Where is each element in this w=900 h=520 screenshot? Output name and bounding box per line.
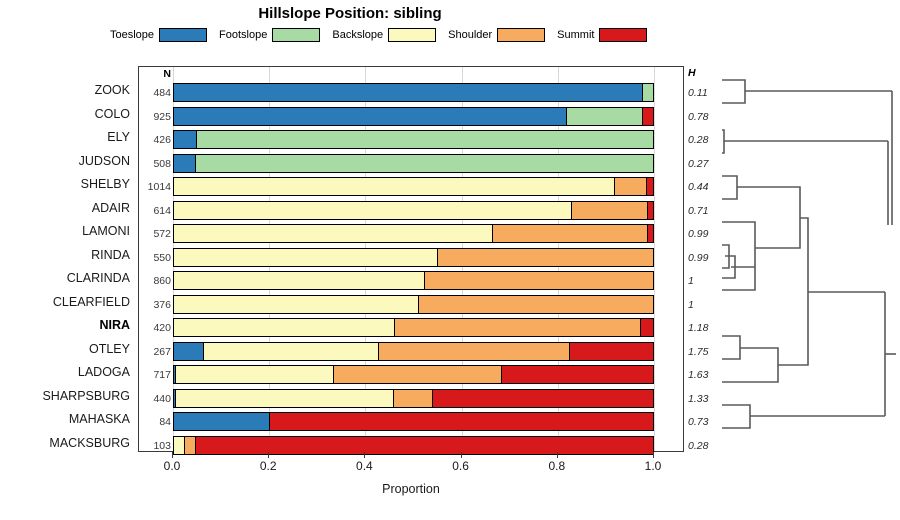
bar-segment	[438, 249, 653, 266]
table-row: 860	[139, 269, 683, 292]
row-n-value: 267	[139, 346, 171, 358]
legend-item-label: Backslope	[332, 29, 383, 41]
table-row: 484	[139, 81, 683, 104]
bar-segment	[176, 390, 394, 407]
stacked-bar-panel: N 48492542650810146145725508603764202677…	[138, 66, 684, 452]
series-label: LAMONI	[0, 224, 130, 238]
bar-segment	[615, 178, 648, 195]
row-n-value: 925	[139, 111, 171, 123]
bar-segment	[643, 108, 653, 125]
bar-segment	[174, 249, 438, 266]
bar-segment	[648, 225, 653, 242]
series-label: JUDSON	[0, 154, 130, 168]
stacked-bar	[173, 295, 654, 314]
bar-segment	[394, 390, 432, 407]
stacked-bar	[173, 154, 654, 173]
row-n-value: 103	[139, 440, 171, 452]
stacked-bar	[173, 412, 654, 431]
legend-item-label: Shoulder	[448, 29, 492, 41]
x-axis-tick	[557, 452, 558, 458]
series-label: ADAIR	[0, 201, 130, 215]
bar-segment	[197, 131, 653, 148]
bar-segment	[643, 84, 653, 101]
table-row: 925	[139, 105, 683, 128]
stacked-bar	[173, 342, 654, 361]
bar-segment	[174, 272, 425, 289]
bar-segment	[419, 296, 653, 313]
stacked-bar	[173, 83, 654, 102]
row-n-value: 376	[139, 299, 171, 311]
dendrogram	[700, 60, 900, 460]
page-title: Hillslope Position: sibling	[0, 5, 700, 22]
bar-segment	[174, 343, 204, 360]
row-n-value: 420	[139, 322, 171, 334]
column-header-n: N	[139, 68, 171, 80]
bar-segment	[185, 437, 196, 454]
legend-swatch	[159, 28, 207, 42]
bar-segment	[493, 225, 649, 242]
legend-item: Backslope	[332, 28, 436, 42]
bar-segment	[176, 366, 334, 383]
bar-segment	[174, 202, 572, 219]
series-label: LADOGA	[0, 365, 130, 379]
legend-swatch	[599, 28, 647, 42]
bar-segment	[174, 108, 567, 125]
series-label: RINDA	[0, 248, 130, 262]
bar-segment	[334, 366, 502, 383]
table-row: 572	[139, 222, 683, 245]
bar-segment	[196, 437, 653, 454]
series-label: SHELBY	[0, 177, 130, 191]
series-label: MACKSBURG	[0, 436, 130, 450]
bar-segment	[174, 225, 493, 242]
x-axis-tick	[653, 452, 654, 458]
legend-swatch	[388, 28, 436, 42]
bar-segment	[196, 155, 653, 172]
bar-segment	[502, 366, 653, 383]
x-axis-tick-label: 0.0	[149, 459, 195, 473]
legend-item-label: Summit	[557, 29, 594, 41]
legend-swatch	[272, 28, 320, 42]
legend-item: Summit	[557, 28, 647, 42]
row-n-value: 508	[139, 158, 171, 170]
x-axis-tick	[364, 452, 365, 458]
series-label: ZOOK	[0, 83, 130, 97]
bar-segment	[641, 319, 653, 336]
legend-item: Toeslope	[110, 28, 207, 42]
series-label: OTLEY	[0, 342, 130, 356]
bar-segment	[174, 437, 185, 454]
row-n-value: 550	[139, 252, 171, 264]
legend-item-label: Footslope	[219, 29, 267, 41]
bar-segment	[395, 319, 640, 336]
series-label: COLO	[0, 107, 130, 121]
series-label: CLARINDA	[0, 271, 130, 285]
row-n-value: 572	[139, 228, 171, 240]
series-label: MAHASKA	[0, 412, 130, 426]
row-h-value: 1	[688, 299, 694, 311]
series-label: NIRA	[0, 318, 130, 332]
series-label: ELY	[0, 130, 130, 144]
x-axis-label: Proportion	[138, 482, 684, 496]
row-n-value: 484	[139, 87, 171, 99]
row-n-value: 614	[139, 205, 171, 217]
stacked-bar	[173, 224, 654, 243]
x-axis-tick-label: 0.4	[341, 459, 387, 473]
stacked-bar	[173, 201, 654, 220]
bar-segment	[204, 343, 379, 360]
series-label: SHARPSBURG	[0, 389, 130, 403]
bar-segment	[425, 272, 653, 289]
bar-segment	[270, 413, 653, 430]
table-row: 508	[139, 152, 683, 175]
x-axis-tick-label: 0.6	[438, 459, 484, 473]
bar-segment	[174, 296, 419, 313]
x-axis-tick-label: 0.2	[245, 459, 291, 473]
x-axis-tick-label: 1.0	[630, 459, 676, 473]
row-n-value: 84	[139, 416, 171, 428]
bar-segment	[572, 202, 649, 219]
table-row: 420	[139, 316, 683, 339]
row-n-value: 717	[139, 369, 171, 381]
bar-segment	[433, 390, 653, 407]
x-axis-tick	[172, 452, 173, 458]
table-row: 376	[139, 293, 683, 316]
bar-segment	[174, 84, 643, 101]
bar-segment	[174, 319, 395, 336]
stacked-bar	[173, 130, 654, 149]
row-n-value: 860	[139, 275, 171, 287]
table-row: 426	[139, 128, 683, 151]
row-n-value: 426	[139, 134, 171, 146]
series-label-axis: ZOOKCOLOELYJUDSONSHELBYADAIRLAMONIRINDAC…	[0, 66, 136, 452]
row-n-value: 1014	[139, 181, 171, 193]
bar-segment	[174, 131, 197, 148]
table-row: 440	[139, 387, 683, 410]
table-row: 717	[139, 363, 683, 386]
bar-segment	[379, 343, 571, 360]
series-label: CLEARFIELD	[0, 295, 130, 309]
table-row: 614	[139, 199, 683, 222]
bar-segment	[174, 155, 196, 172]
stacked-bar	[173, 107, 654, 126]
table-row: 550	[139, 246, 683, 269]
stacked-bar	[173, 365, 654, 384]
table-row: 1014	[139, 175, 683, 198]
stacked-bar	[173, 389, 654, 408]
bar-segment	[174, 178, 615, 195]
dendrogram-svg	[700, 60, 900, 460]
stacked-bar	[173, 318, 654, 337]
table-row: 267	[139, 340, 683, 363]
legend-item-label: Toeslope	[110, 29, 154, 41]
legend-item: Footslope	[219, 28, 320, 42]
stacked-bar	[173, 177, 654, 196]
bar-segment	[647, 178, 653, 195]
row-n-value: 440	[139, 393, 171, 405]
legend-swatch	[497, 28, 545, 42]
x-axis-tick	[268, 452, 269, 458]
legend-item: Shoulder	[448, 28, 545, 42]
table-row: 84	[139, 410, 683, 433]
row-h-value: 1	[688, 275, 694, 287]
x-axis-tick-label: 0.8	[534, 459, 580, 473]
stacked-bar	[173, 248, 654, 267]
x-axis: 0.00.20.40.60.81.0	[138, 452, 684, 482]
x-axis-tick	[461, 452, 462, 458]
stacked-bar	[173, 271, 654, 290]
bar-segment	[648, 202, 653, 219]
legend: ToeslopeFootslopeBackslopeShoulderSummit	[110, 26, 710, 44]
bar-segment	[570, 343, 653, 360]
bar-segment	[567, 108, 644, 125]
bar-segment	[174, 413, 270, 430]
